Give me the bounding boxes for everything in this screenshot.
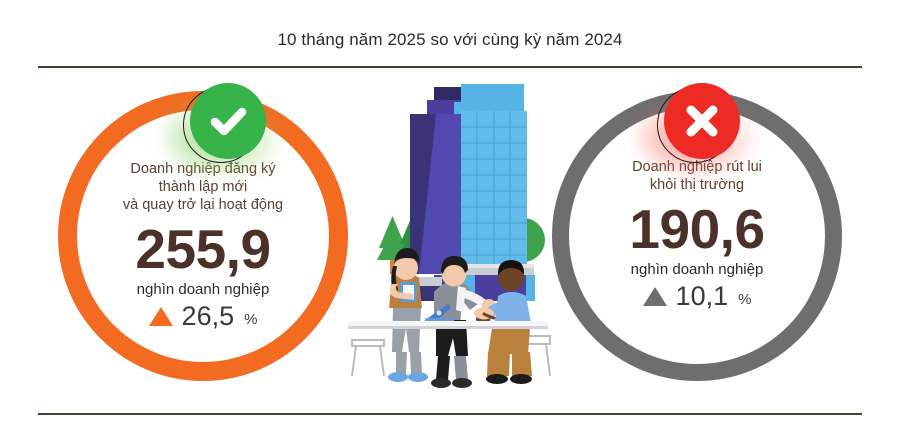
right-value: 190,6	[629, 198, 764, 260]
right-delta-symbol: %	[738, 291, 751, 308]
page-title: 10 tháng năm 2025 so với cùng kỳ năm 202…	[0, 30, 900, 50]
right-unit: nghìn doanh nghiệp	[631, 261, 764, 278]
right-delta: 10,1 %	[643, 283, 752, 310]
divider-top	[38, 66, 862, 68]
left-badge	[181, 83, 267, 169]
arrow-up-icon	[643, 287, 667, 306]
left-unit: nghìn doanh nghiệp	[137, 281, 270, 298]
left-value: 255,9	[135, 218, 270, 280]
infographic-root: 10 tháng năm 2025 so với cùng kỳ năm 202…	[0, 0, 900, 433]
left-delta: 26,5 %	[149, 303, 258, 330]
right-delta-value: 10,1	[676, 283, 729, 310]
check-circle-icon	[190, 83, 266, 159]
divider-bottom	[38, 413, 862, 415]
business-meeting-office-building-illustration	[348, 78, 558, 398]
left-delta-symbol: %	[244, 311, 257, 328]
table-icon	[348, 321, 548, 329]
right-badge	[655, 83, 741, 169]
x-circle-icon	[664, 83, 740, 159]
arrow-up-icon	[149, 307, 173, 326]
left-delta-value: 26,5	[182, 303, 235, 330]
